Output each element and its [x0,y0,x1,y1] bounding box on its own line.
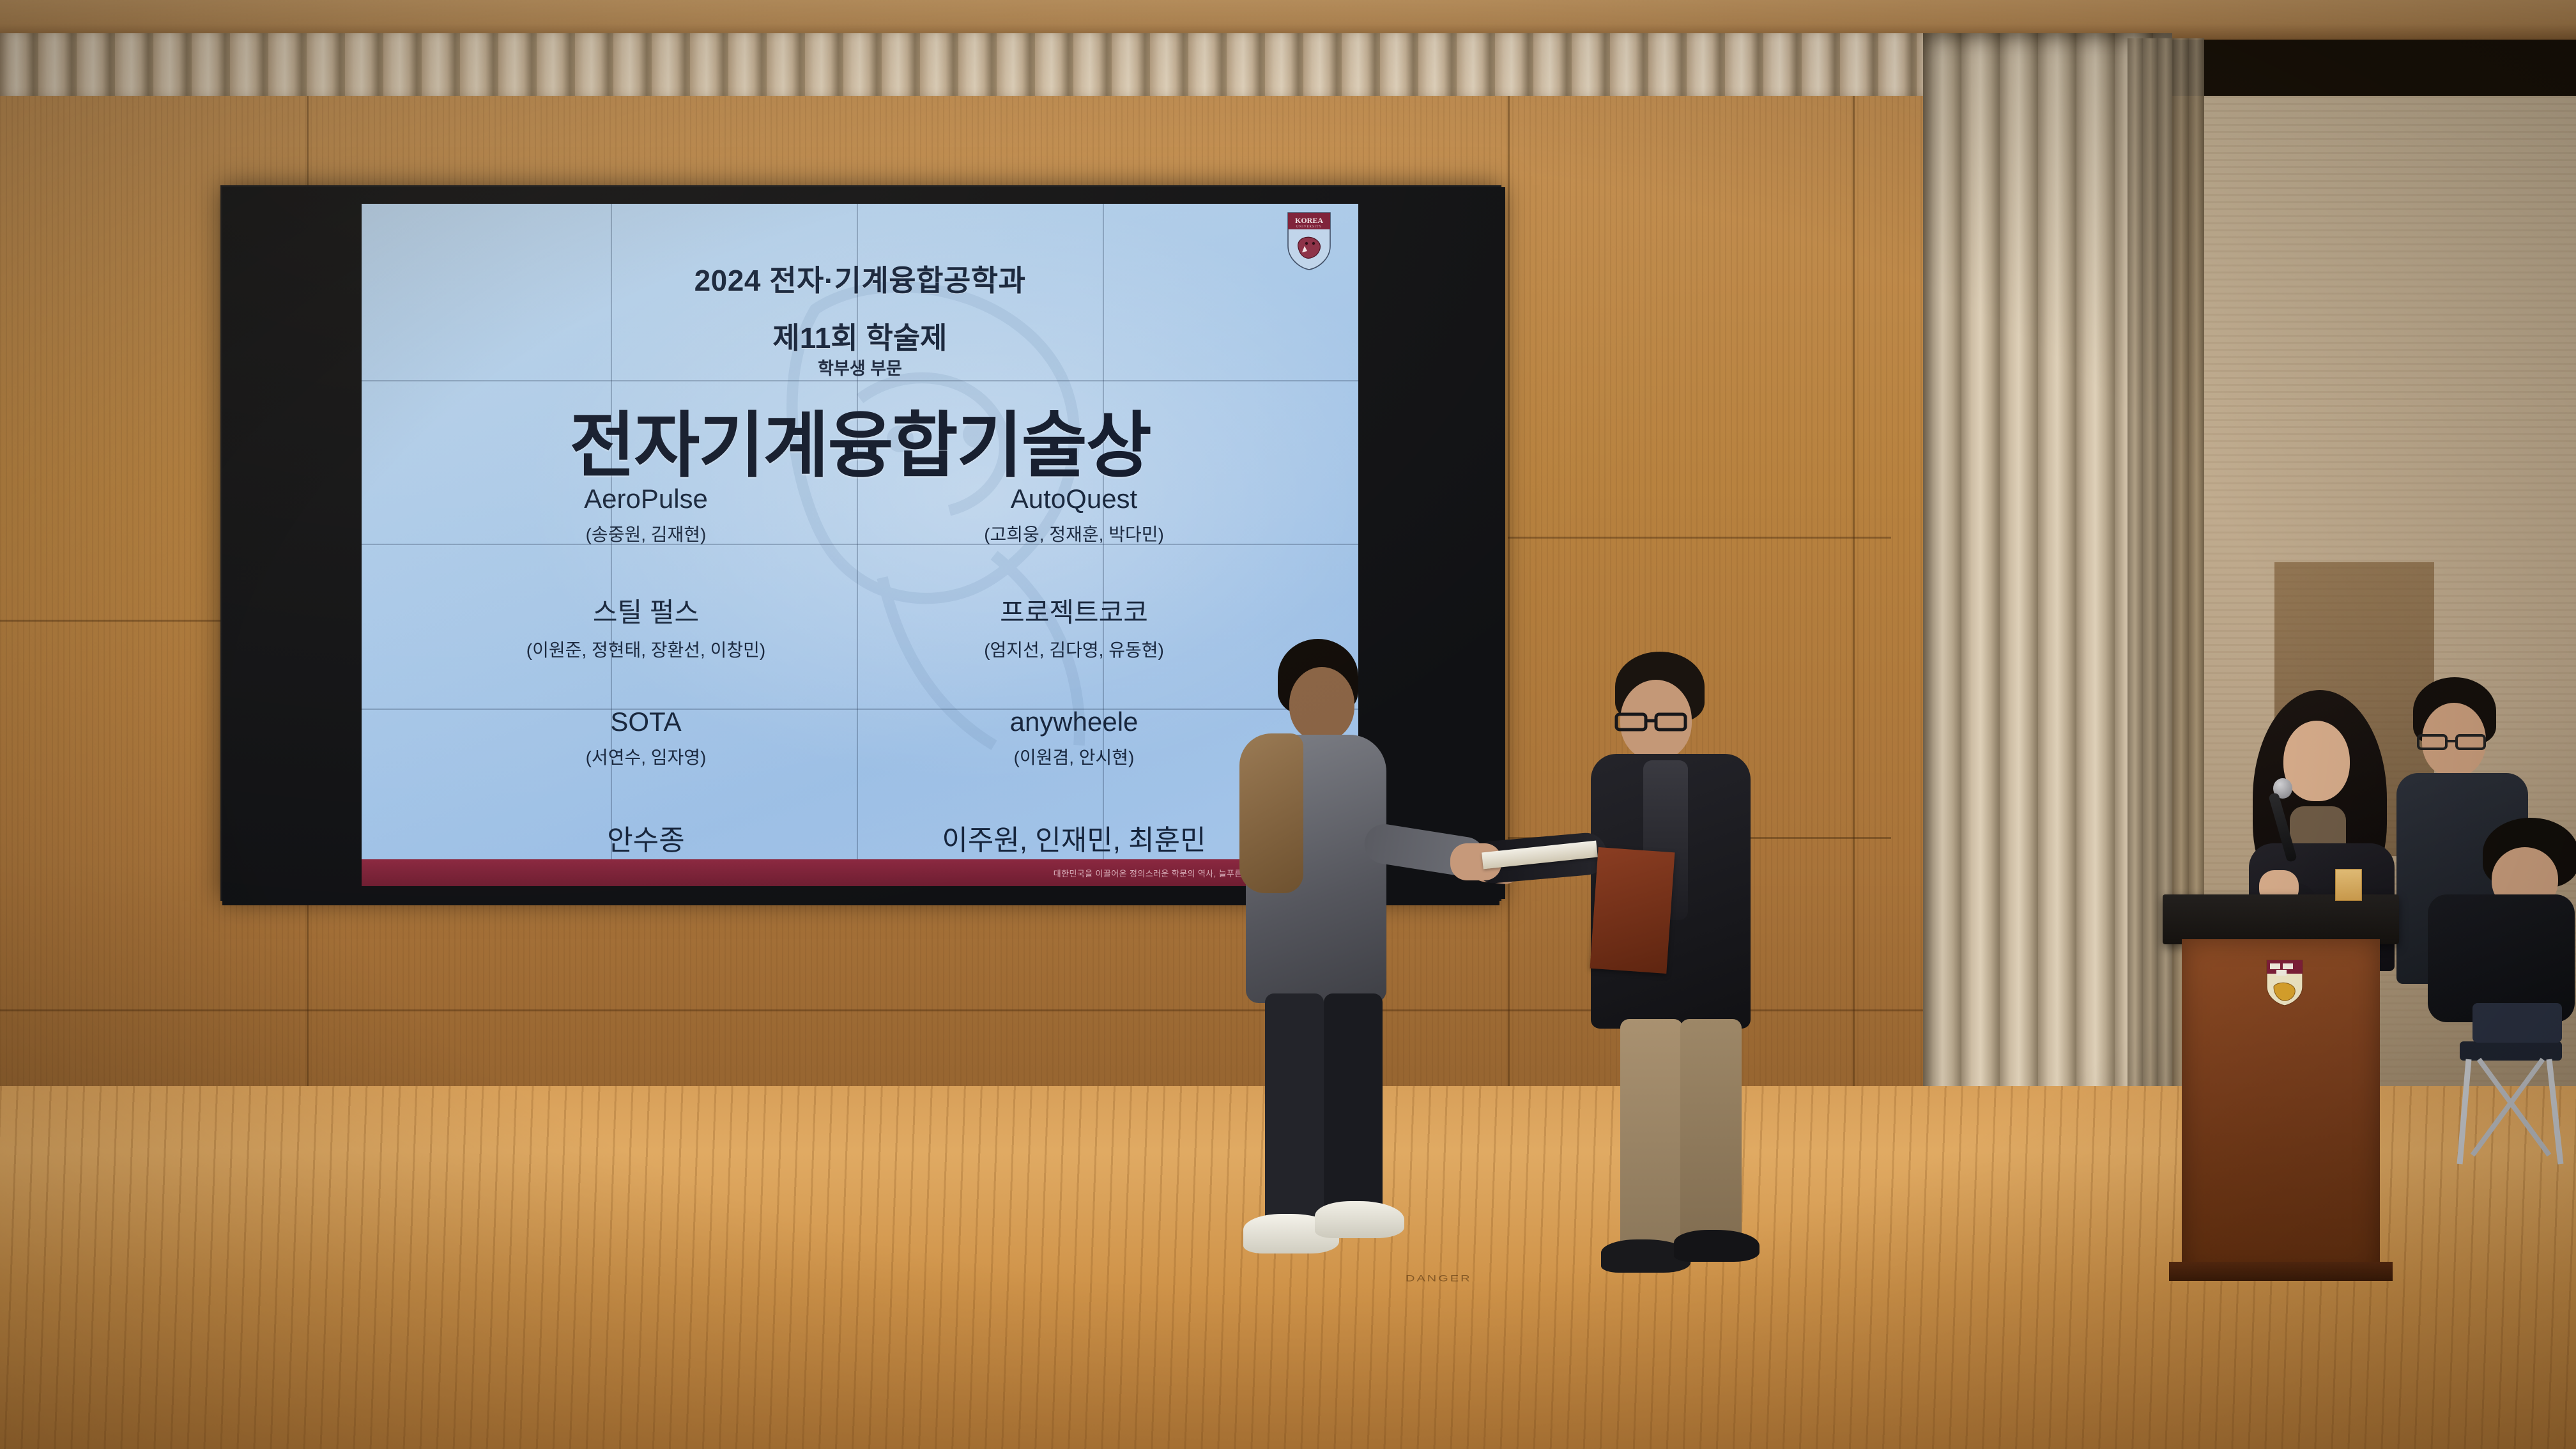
award-cell: 프로젝트코코 (엄지선, 김다영, 유동현) [860,586,1288,662]
team-name: 스틸 펄스 [432,591,860,630]
videowall-bezel-left [222,187,362,899]
leg [1620,1019,1683,1255]
award-recipient-student [1233,639,1425,1278]
slide-title-line1: 2024 전자·기계융합공학과 [362,257,1358,300]
team-name: SOTA [432,707,860,737]
team-name: AeroPulse [432,484,860,514]
podium-tiger-crest-icon [2265,958,2304,1007]
slide-section-label: 학부생 부문 [362,355,1358,379]
videowall-seam [362,380,1358,381]
podium-top [2163,894,2399,944]
leg [1680,1019,1742,1255]
team-members: (송중원, 김재현) [432,521,860,546]
final-name-right: 이주원, 인재민, 최훈민 [860,817,1288,858]
name-card [2335,869,2362,901]
team-members: (이원겸, 안시현) [860,744,1288,769]
award-cell: SOTA (서연수, 임자영) [432,701,860,769]
wall-seam [1508,537,1891,539]
hood [1239,733,1303,893]
shoe [1674,1230,1759,1262]
auditorium-photo: KOREA UNIVERSITY 2024 전자·기계융합공학과 제11회 학술… [0,0,2576,1449]
team-members: (고희웅, 정재훈, 박다민) [860,521,1288,546]
award-row: SOTA (서연수, 임자영) anywheele (이원겸, 안시현) [432,701,1288,769]
videowall-bezel-top [222,187,1499,204]
slide-title-line2: 제11회 학술제 [362,315,1358,357]
final-name-left: 안수종 [432,817,860,858]
team-name: anywheele [860,707,1288,737]
slide-title-block: 2024 전자·기계융합공학과 제11회 학술제 [362,257,1358,357]
award-row: AeroPulse (송중원, 김재현) AutoQuest (고희웅, 정재훈… [432,479,1288,546]
team-name: AutoQuest [860,484,1288,514]
slide-footer-band: 대한민국을 이끌어온 정의스러운 학문의 역사, 늘푸른 고대의 새로운 백년도 [362,859,1358,886]
team-members: (이원준, 정현태, 장환선, 이창민) [432,636,860,662]
award-cell: 스틸 펄스 (이원준, 정현태, 장환선, 이창민) [432,586,860,662]
glasses-icon [2416,732,2490,751]
team-name: 프로젝트코코 [860,591,1288,630]
leg [1324,993,1383,1236]
leg [1265,993,1324,1236]
team-members: (엄지선, 김다영, 유동현) [860,636,1288,662]
svg-text:KOREA: KOREA [1295,216,1323,225]
glasses-icon [1614,710,1690,732]
podium-base [2169,1262,2393,1281]
wall-seam [1853,96,1855,1182]
award-winners-table: AeroPulse (송중원, 김재현) AutoQuest (고희웅, 정재훈… [432,479,1288,769]
award-row: 스틸 펄스 (이원준, 정현태, 장환선, 이창민) 프로젝트코코 (엄지선, … [432,586,1288,662]
shoe [1315,1201,1404,1238]
head [2283,721,2350,801]
team-members: (서연수, 임자영) [432,744,860,769]
svg-text:UNIVERSITY: UNIVERSITY [1296,226,1322,229]
award-cell: AutoQuest (고희웅, 정재훈, 박다민) [860,479,1288,546]
presentation-slide: KOREA UNIVERSITY 2024 전자·기계융합공학과 제11회 학술… [362,204,1358,886]
folding-chair [2453,997,2568,1169]
head [1289,667,1354,741]
slide-award-title: 전자기계융합기술상 [362,388,1358,491]
wall-seam [1508,96,1510,1182]
certificate-folder [1590,847,1675,974]
award-cell: AeroPulse (송중원, 김재현) [432,479,860,546]
award-final-row: 안수종 이주원, 인재민, 최훈민 [432,817,1288,858]
award-cell: anywheele (이원겸, 안시현) [860,701,1288,769]
